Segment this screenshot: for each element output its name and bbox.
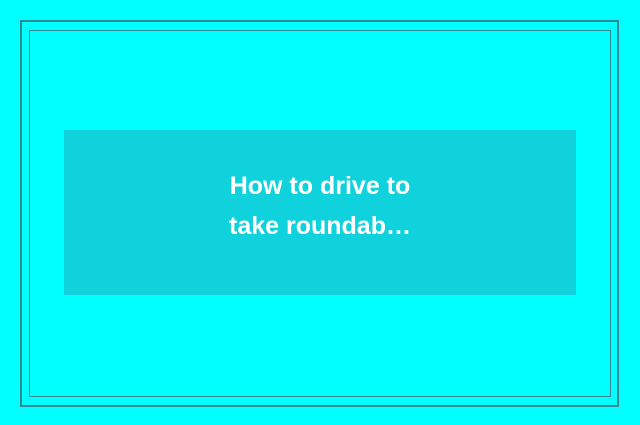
caption-line-2: take roundab…: [229, 206, 411, 246]
caption-line-1: How to drive to: [230, 166, 411, 206]
caption-block: How to drive to take roundab…: [64, 130, 576, 295]
thumbnail-canvas: How to drive to take roundab…: [0, 0, 640, 425]
